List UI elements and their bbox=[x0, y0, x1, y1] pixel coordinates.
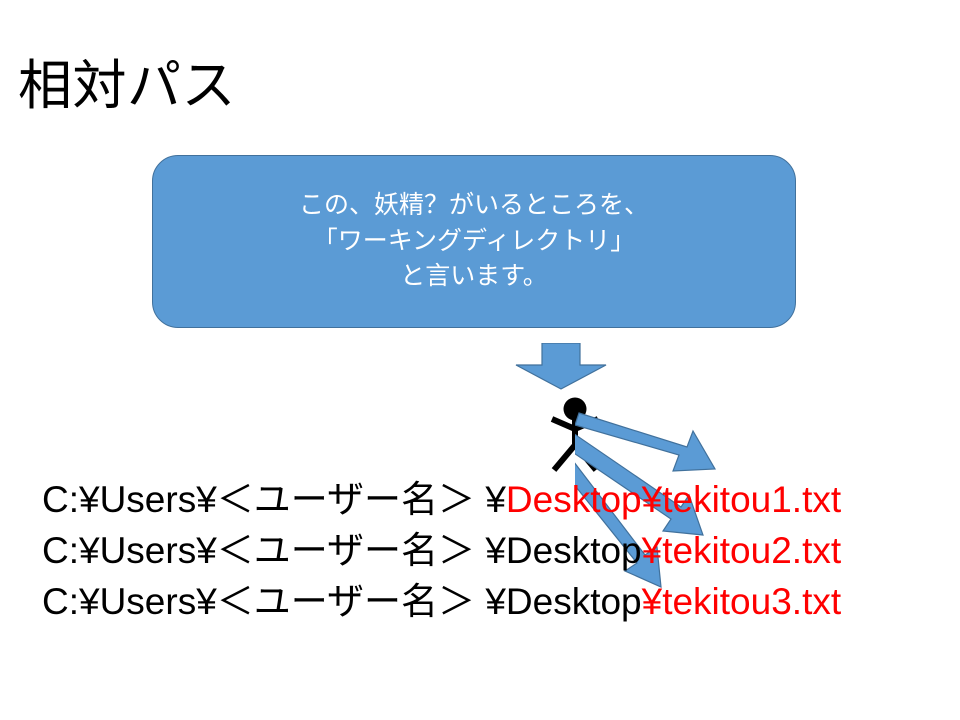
path-list: C:¥Users¥＜ユーザー名＞ ¥Desktop¥tekitou1.txt C… bbox=[42, 474, 942, 627]
page-title: 相対パス bbox=[18, 58, 236, 115]
path-line-1-red: Desktop¥tekitou1.txt bbox=[506, 479, 841, 520]
path-line-2-red: ¥tekitou2.txt bbox=[642, 530, 842, 571]
callout-line-1: この、妖精？がいるところを、 bbox=[299, 188, 649, 224]
path-line-1: C:¥Users¥＜ユーザー名＞ ¥Desktop¥tekitou1.txt bbox=[42, 474, 942, 525]
path-line-3-black: C:¥Users¥＜ユーザー名＞ ¥Desktop bbox=[42, 581, 642, 622]
path-line-1-black: C:¥Users¥＜ユーザー名＞ ¥ bbox=[42, 479, 506, 520]
path-line-2: C:¥Users¥＜ユーザー名＞ ¥Desktop¥tekitou2.txt bbox=[42, 525, 942, 576]
path-line-3-red: ¥tekitou3.txt bbox=[642, 581, 842, 622]
path-line-2-black: C:¥Users¥＜ユーザー名＞ ¥Desktop bbox=[42, 530, 642, 571]
stick-figure-icon bbox=[548, 396, 602, 474]
callout-line-2: 「ワーキングディレクトリ」 bbox=[313, 224, 636, 260]
callout-line-3: と言います。 bbox=[400, 259, 548, 295]
working-directory-callout: この、妖精？がいるところを、 「ワーキングディレクトリ」 と言います。 bbox=[152, 155, 796, 328]
down-arrow-icon bbox=[514, 343, 608, 391]
path-line-3: C:¥Users¥＜ユーザー名＞ ¥Desktop¥tekitou3.txt bbox=[42, 576, 942, 627]
slide-canvas: 相対パス この、妖精？がいるところを、 「ワーキングディレクトリ」 と言います。 bbox=[0, 0, 960, 720]
